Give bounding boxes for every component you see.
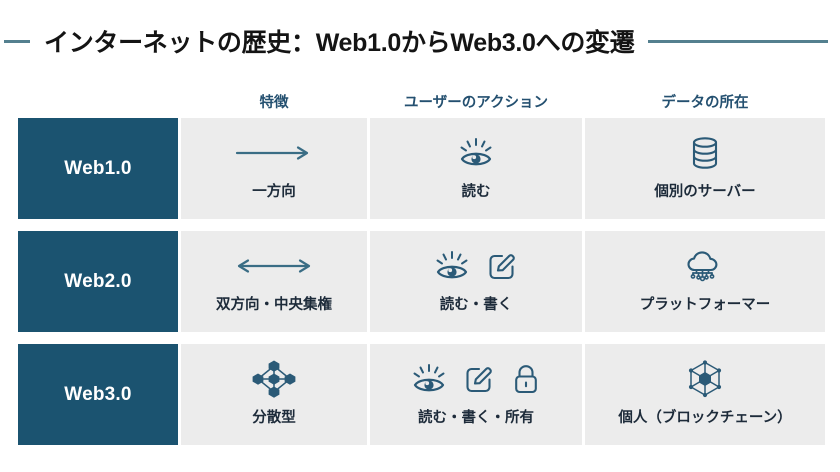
cloud-network-icon [682, 249, 728, 283]
icon-group [245, 362, 303, 396]
cell-web2-action: 読む・書く [370, 231, 582, 332]
cell-web1-action: 読む [370, 118, 582, 219]
column-header-user-action: ユーザーのアクション [370, 91, 582, 112]
eye-icon [435, 250, 469, 282]
icon-group [690, 136, 720, 170]
title-rule-right [648, 40, 828, 43]
column-header-data-location: データの所在 [585, 91, 825, 112]
eye-icon [412, 363, 446, 395]
icon-group [233, 249, 315, 283]
cell-label: 読む [462, 180, 491, 201]
table-row: Web2.0 双方向・中央集権 [18, 231, 818, 332]
cell-label: 読む・書く・所有 [418, 406, 534, 427]
cell-web3-data-location: 個人（ブロックチェーン） [585, 344, 825, 445]
row-label-web2: Web2.0 [18, 231, 178, 332]
icon-group [435, 249, 517, 283]
page-title-bar: インターネットの歴史：Web1.0からWeb3.0への変遷 [0, 20, 840, 62]
eye-icon [459, 137, 493, 169]
row-label-web1: Web1.0 [18, 118, 178, 219]
icon-group [685, 362, 725, 396]
cell-label: 個別のサーバー [654, 180, 755, 201]
page-title: インターネットの歴史：Web1.0からWeb3.0への変遷 [30, 23, 648, 59]
decentralized-network-icon [245, 356, 303, 402]
blockchain-cube-icon [685, 359, 725, 399]
cell-web3-feature: 分散型 [181, 344, 367, 445]
icon-group [233, 136, 315, 170]
arrow-right-icon [233, 143, 315, 163]
table-header-row: 特徴 ユーザーのアクション データの所在 [18, 84, 818, 118]
icon-group [682, 249, 728, 283]
cell-web1-data-location: 個別のサーバー [585, 118, 825, 219]
pencil-square-icon [464, 364, 494, 394]
table-row: Web1.0 一方向 [18, 118, 818, 219]
arrow-left-right-icon [233, 256, 315, 276]
cell-web3-action: 読む・書く・所有 [370, 344, 582, 445]
cell-web1-feature: 一方向 [181, 118, 367, 219]
cell-web2-feature: 双方向・中央集権 [181, 231, 367, 332]
database-icon [690, 136, 720, 170]
table-row: Web3.0 [18, 344, 818, 445]
column-header-feature: 特徴 [181, 91, 367, 112]
icon-group [412, 362, 540, 396]
icon-group [459, 136, 493, 170]
cell-label: 分散型 [252, 406, 296, 427]
cell-label: 個人（ブロックチェーン） [618, 406, 791, 427]
cell-web2-data-location: プラットフォーマー [585, 231, 825, 332]
pencil-square-icon [487, 251, 517, 281]
title-rule-left [4, 40, 30, 43]
cell-label: 一方向 [252, 180, 296, 201]
cell-label: 読む・書く [440, 293, 513, 314]
cell-label: 双方向・中央集権 [216, 293, 332, 314]
cell-label: プラットフォーマー [640, 293, 771, 314]
lock-icon [512, 364, 540, 395]
web-evolution-table: 特徴 ユーザーのアクション データの所在 Web1.0 一方向 [18, 84, 818, 445]
row-label-web3: Web3.0 [18, 344, 178, 445]
